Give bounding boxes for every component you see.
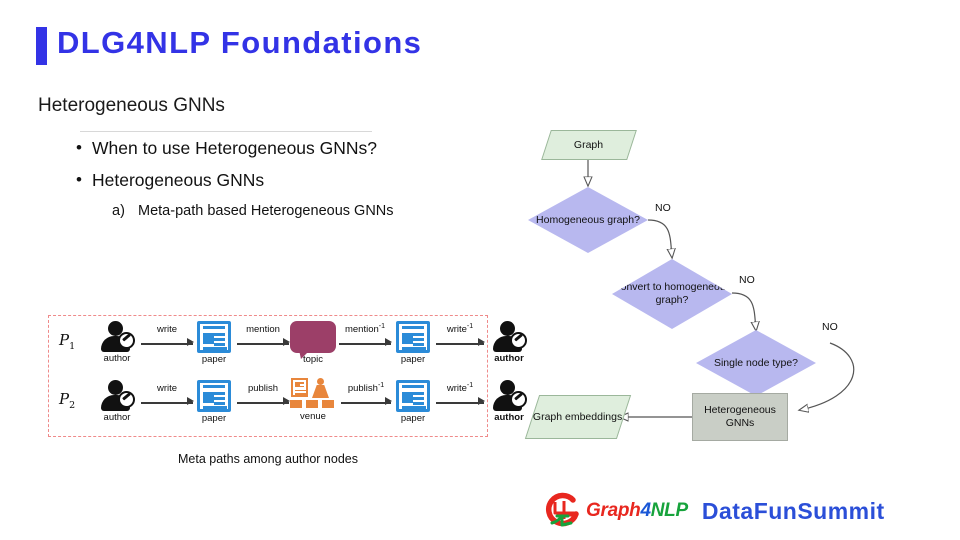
- paper-icon: [396, 380, 430, 412]
- topic-icon: [290, 321, 336, 353]
- logo-part-four: 4: [640, 500, 650, 521]
- bullet-item: Heterogeneous GNNs: [76, 170, 476, 192]
- sub-bullet-item: a) Meta-path based Heterogeneous GNNs: [112, 202, 476, 221]
- node-caption: author: [97, 353, 137, 364]
- bullet-list: When to use Heterogeneous GNNs? Heteroge…: [76, 138, 476, 221]
- paper-icon: [396, 321, 430, 353]
- edge-mention-inverse: mention-1: [339, 336, 391, 350]
- edge-mention: mention: [237, 336, 289, 350]
- flow-node-label: Convert to homogeneous graph?: [612, 281, 732, 306]
- venue-icon: [290, 378, 336, 410]
- node-paper: paper: [393, 380, 433, 424]
- sub-bullet-label: Meta-path based Heterogeneous GNNs: [138, 203, 394, 219]
- node-caption: venue: [289, 411, 337, 422]
- edge-write: write: [141, 336, 193, 350]
- author-icon: [99, 380, 135, 411]
- flow-node-graph[interactable]: Graph: [541, 130, 637, 160]
- slide-subtitle: Heterogeneous GNNs: [38, 95, 225, 117]
- edge-publish: publish: [237, 395, 289, 409]
- flow-node-label: Graph embeddings: [533, 411, 622, 424]
- title-accent-bar: [36, 27, 47, 65]
- page-title: DLG4NLP Foundations: [57, 25, 422, 61]
- node-author: author: [97, 380, 137, 423]
- node-topic: topic: [289, 321, 337, 365]
- node-caption: paper: [393, 354, 433, 365]
- flow-node-label: Graph: [574, 139, 603, 152]
- logo-row: Graph4NLP DataFunSummit: [540, 487, 885, 535]
- node-paper: paper: [194, 321, 234, 365]
- edge-write: write: [141, 395, 193, 409]
- flow-node-label: Heterogeneous GNNs: [693, 404, 787, 429]
- figure-caption: Meta paths among author nodes: [48, 452, 488, 466]
- flow-edge-label-no: NO: [655, 202, 671, 214]
- edge-publish-inverse: publish-1: [341, 395, 391, 409]
- node-paper: paper: [393, 321, 433, 365]
- author-icon: [99, 321, 135, 352]
- node-caption: paper: [194, 413, 234, 424]
- paper-icon: [197, 380, 231, 412]
- paper-icon: [197, 321, 231, 353]
- logo-part-graph: Graph: [586, 500, 640, 521]
- logo-part-nlp: NLP: [651, 500, 688, 521]
- edge-write-inverse: write-1: [436, 395, 484, 409]
- node-caption: topic: [289, 354, 337, 365]
- subtitle-divider: [80, 131, 372, 132]
- bullet-item: When to use Heterogeneous GNNs?: [76, 138, 476, 160]
- graph4nlp-logo-icon: [540, 489, 584, 533]
- graph4nlp-logo-text: Graph4NLP: [586, 500, 688, 522]
- flow-node-label: Homogeneous graph?: [536, 214, 640, 227]
- metapath-row-label: P2: [59, 390, 75, 411]
- metapath-diagram: P1 author write paper mention topic: [48, 315, 488, 437]
- node-paper: paper: [194, 380, 234, 424]
- edge-write-inverse: write-1: [436, 336, 484, 350]
- flow-edge-label-no: NO: [739, 274, 755, 286]
- flow-node-heterogeneous-gnns[interactable]: Heterogeneous GNNs: [692, 393, 788, 441]
- metapath-row: P1 author write paper mention topic: [49, 319, 487, 374]
- metapath-row-label: P1: [59, 331, 75, 352]
- flow-edge-label-no: NO: [822, 321, 838, 333]
- flowchart: Graph Homogeneous graph? Convert to homo…: [500, 125, 960, 455]
- flow-node-graph-embeddings[interactable]: Graph embeddings: [525, 395, 631, 439]
- node-caption: paper: [194, 354, 234, 365]
- metapath-row: P2 author write paper publish: [49, 378, 487, 433]
- flow-node-label: Single node type?: [714, 357, 798, 370]
- node-caption: paper: [393, 413, 433, 424]
- node-caption: author: [97, 412, 137, 423]
- datafunsummit-logo: DataFunSummit: [702, 498, 885, 525]
- sub-bullet-marker: a): [112, 202, 125, 221]
- node-author: author: [97, 321, 137, 364]
- node-venue: venue: [289, 378, 337, 422]
